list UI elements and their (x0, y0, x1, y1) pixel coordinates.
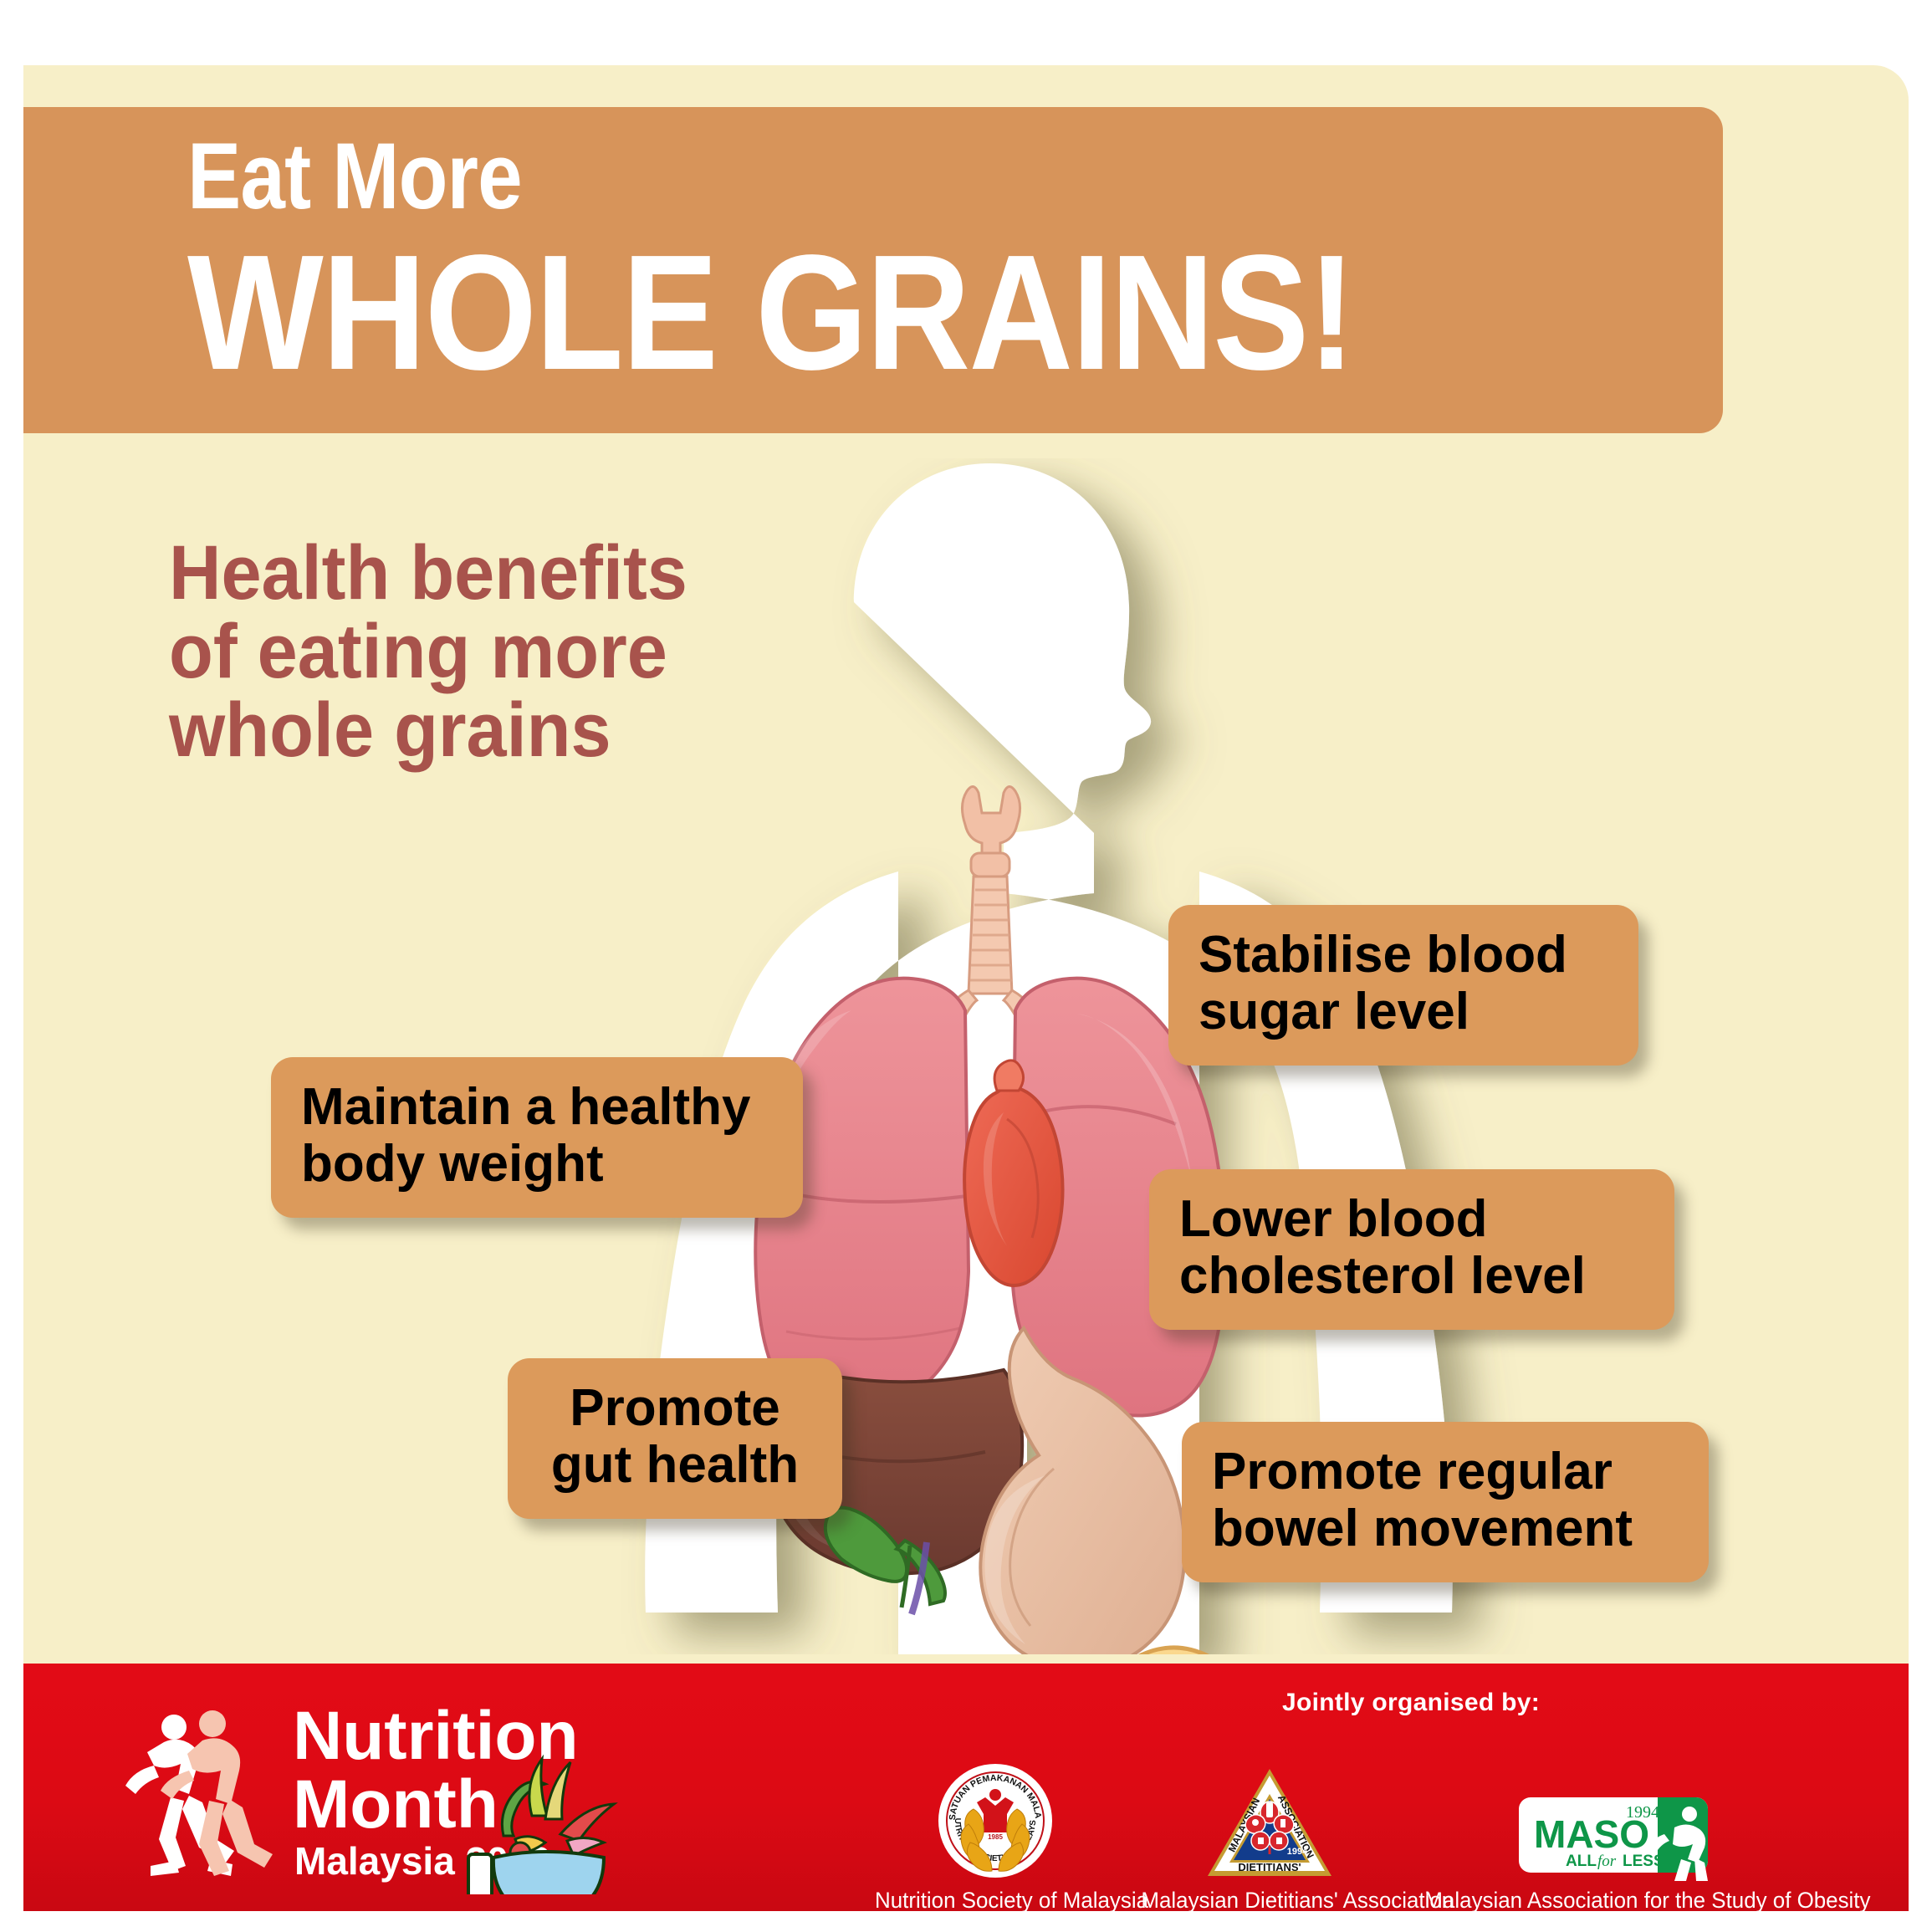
benefit-line-2: body weight (301, 1136, 774, 1193)
benefit-line-1: Promote (528, 1380, 822, 1437)
benefit-callout-lower-cholesterol: Lower blood cholesterol level (1149, 1169, 1674, 1330)
title-line-1: Eat More (187, 127, 1327, 226)
mda-logo-mark: MALAYSIAN ASSOCIATION DIETITIANS' 1994 (1136, 1756, 1403, 1881)
maso-year: 1994 (1626, 1803, 1659, 1822)
jointly-organised-label: Jointly organised by: (1198, 1689, 1624, 1717)
nmm-line-1: Nutrition (293, 1698, 579, 1774)
running-figures-icon (125, 1710, 273, 1876)
benefit-callout-promote-gut-health: Promote gut health (508, 1358, 842, 1519)
benefit-line-2: cholesterol level (1179, 1248, 1646, 1305)
nsm-name: Nutrition Society of Malaysia (875, 1888, 1116, 1911)
benefit-callout-promote-bowel-movement: Promote regular bowel movement (1182, 1422, 1709, 1582)
maso-tagline-all: ALL (1566, 1853, 1597, 1870)
maso-logo-mark: MASO 1994 ALL for LESS (1417, 1756, 1810, 1881)
mda-bottom-text: DIETITIANS' (1238, 1861, 1301, 1873)
benefit-line-2: sugar level (1199, 984, 1610, 1040)
benefit-callout-maintain-healthy-weight: Maintain a healthy body weight (271, 1057, 803, 1218)
organisation-maso: MASO 1994 ALL for LESS (1417, 1756, 1810, 1911)
nsm-logo-mark: PERSATUAN PEMAKANAN MALAYSIA NUTRITION S… (870, 1756, 1121, 1881)
footer-bar: Nutrition Month Malaysia 2020 (23, 1664, 1909, 1911)
nmm-line-2: Month (293, 1766, 498, 1843)
benefit-line-1: Lower blood (1179, 1191, 1646, 1248)
header-banner: Eat More WHOLE GRAINS! (23, 107, 1723, 433)
header-title-group: Eat More WHOLE GRAINS! (187, 127, 1513, 395)
subtitle-line-2: of eating more (169, 612, 687, 691)
mda-name: Malaysian Dietitians' Association (1141, 1888, 1398, 1911)
organisation-nsm: PERSATUAN PEMAKANAN MALAYSIA NUTRITION S… (870, 1756, 1121, 1911)
poster-canvas: Eat More WHOLE GRAINS! Health benefits o… (23, 65, 1909, 1911)
page-subtitle: Health benefits of eating more whole gra… (169, 534, 687, 769)
nutrition-month-malaysia-logo: Nutrition Month Malaysia 2020 (125, 1694, 644, 1894)
nsm-year: 1985 (988, 1833, 1003, 1841)
benefit-line-2: gut health (528, 1437, 822, 1494)
benefit-line-1: Promote regular (1212, 1444, 1680, 1500)
subtitle-line-1: Health benefits (169, 534, 687, 612)
benefit-line-2: bowel movement (1212, 1500, 1680, 1557)
benefit-line-1: Maintain a healthy (301, 1079, 774, 1136)
maso-name: Malaysian Association for the Study of O… (1424, 1888, 1802, 1911)
benefit-callout-stabilise-blood-sugar: Stabilise blood sugar level (1168, 905, 1638, 1066)
infographic-poster: Eat More WHOLE GRAINS! Health benefits o… (0, 0, 1932, 1932)
maso-tagline-for: for (1597, 1853, 1617, 1870)
benefit-line-1: Stabilise blood (1199, 927, 1610, 984)
title-line-2: WHOLE GRAINS! (187, 231, 1354, 395)
subtitle-line-3: whole grains (169, 691, 687, 769)
organisation-mda: MALAYSIAN ASSOCIATION DIETITIANS' 1994 (1136, 1756, 1403, 1911)
mda-year: 1994 (1287, 1847, 1308, 1857)
